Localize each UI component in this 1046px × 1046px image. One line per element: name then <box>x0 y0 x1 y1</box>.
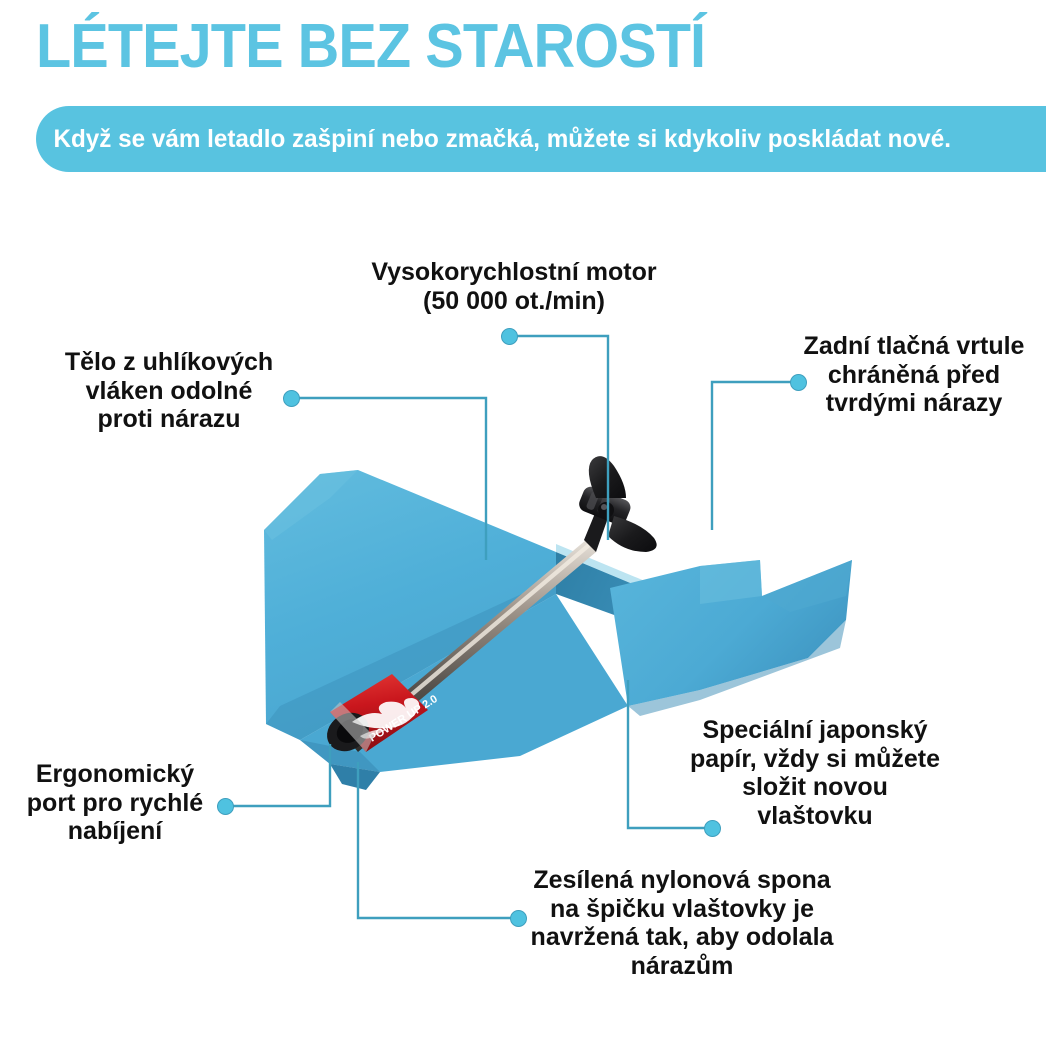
connector-line-motor <box>510 336 608 540</box>
callout-charging-port: Ergonomický port pro rychlé nabíjení <box>16 760 214 846</box>
infographic-page: LÉTEJTE BEZ STAROSTÍ Když se vám letadlo… <box>0 0 1046 1046</box>
connector-line-charging-port <box>226 744 330 806</box>
left-wing <box>264 470 556 740</box>
subtitle-text: Když se vám letadlo zašpiní nebo zmačká,… <box>36 125 951 154</box>
motor-propeller-assembly <box>577 456 657 552</box>
power-module: POWER UP 2.0 <box>320 674 440 759</box>
callout-body: Tělo z uhlíkových vláken odolné proti ná… <box>60 348 278 434</box>
callout-motor: Vysokorychlostní motor (50 000 ot./min) <box>368 258 660 315</box>
subtitle-banner: Když se vám letadlo zašpiní nebo zmačká,… <box>36 106 1046 172</box>
page-title: LÉTEJTE BEZ STAROSTÍ <box>36 14 705 79</box>
callout-nylon-clip: Zesílená nylonová spona na špičku vlašto… <box>524 866 840 980</box>
callout-propeller: Zadní tlačná vrtule chráněná před tvrdým… <box>800 332 1028 418</box>
right-wing <box>610 560 852 716</box>
connector-line-nylon-clip <box>358 762 518 918</box>
fuselage-fold <box>556 544 700 646</box>
lower-body-panel <box>300 594 628 790</box>
connector-dot-charging-port <box>217 798 234 815</box>
callout-paper: Speciální japonský papír, vždy si můžete… <box>684 716 946 830</box>
connector-line-propeller <box>712 382 798 530</box>
connector-line-body <box>292 398 486 560</box>
carbon-fiber-rod <box>348 540 596 752</box>
power-module-label: POWER UP 2.0 <box>367 693 440 745</box>
connector-dot-body <box>283 390 300 407</box>
connector-dot-motor <box>501 328 518 345</box>
